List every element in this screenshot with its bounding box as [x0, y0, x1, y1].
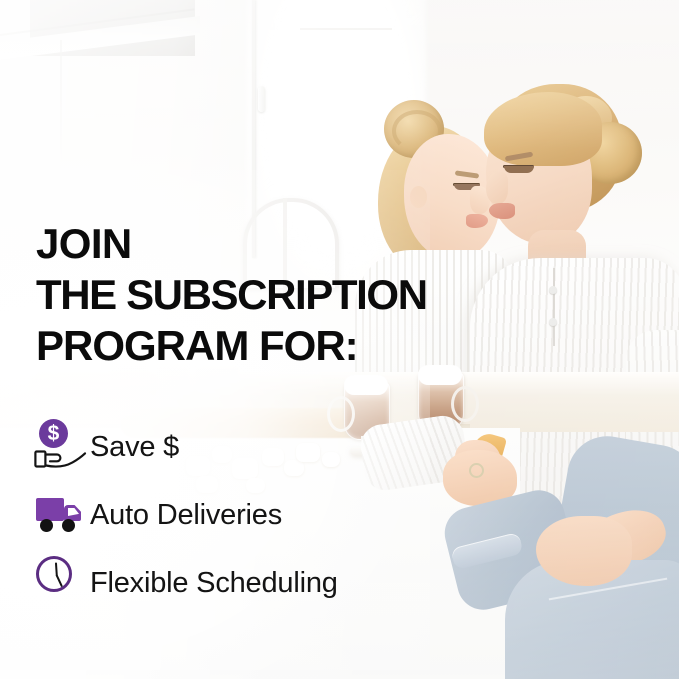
- headline: JOIN THE SUBSCRIPTION PROGRAM FOR:: [36, 218, 427, 371]
- feature-item-auto-deliveries: Auto Deliveries: [34, 481, 338, 549]
- headline-line-3: PROGRAM FOR:: [36, 320, 427, 371]
- feature-label: Flexible Scheduling: [90, 567, 338, 600]
- feature-label: Save $: [90, 431, 179, 464]
- promo-content: JOIN THE SUBSCRIPTION PROGRAM FOR: $ Sav…: [0, 0, 679, 679]
- clock-hands: [36, 556, 76, 596]
- promo-canvas: JOIN THE SUBSCRIPTION PROGRAM FOR: $ Sav…: [0, 0, 679, 679]
- headline-line-1: JOIN: [36, 218, 427, 269]
- open-hand-icon: [34, 445, 88, 473]
- feature-item-flexible-scheduling: Flexible Scheduling: [34, 549, 338, 617]
- feature-label: Auto Deliveries: [90, 499, 282, 532]
- clock-icon: [34, 554, 90, 612]
- truck-wheel: [62, 519, 75, 532]
- truck-cargo-box: [36, 498, 64, 521]
- feature-list: $ Save $ Auto D: [34, 413, 338, 617]
- truck-wheel: [40, 519, 53, 532]
- coin-in-hand-icon: $: [34, 418, 90, 476]
- dollar-sign-glyph: $: [48, 423, 60, 444]
- headline-line-2: THE SUBSCRIPTION: [36, 269, 427, 320]
- delivery-truck-icon: [34, 486, 90, 544]
- feature-item-save: $ Save $: [34, 413, 338, 481]
- dollar-coin-icon: $: [39, 419, 68, 448]
